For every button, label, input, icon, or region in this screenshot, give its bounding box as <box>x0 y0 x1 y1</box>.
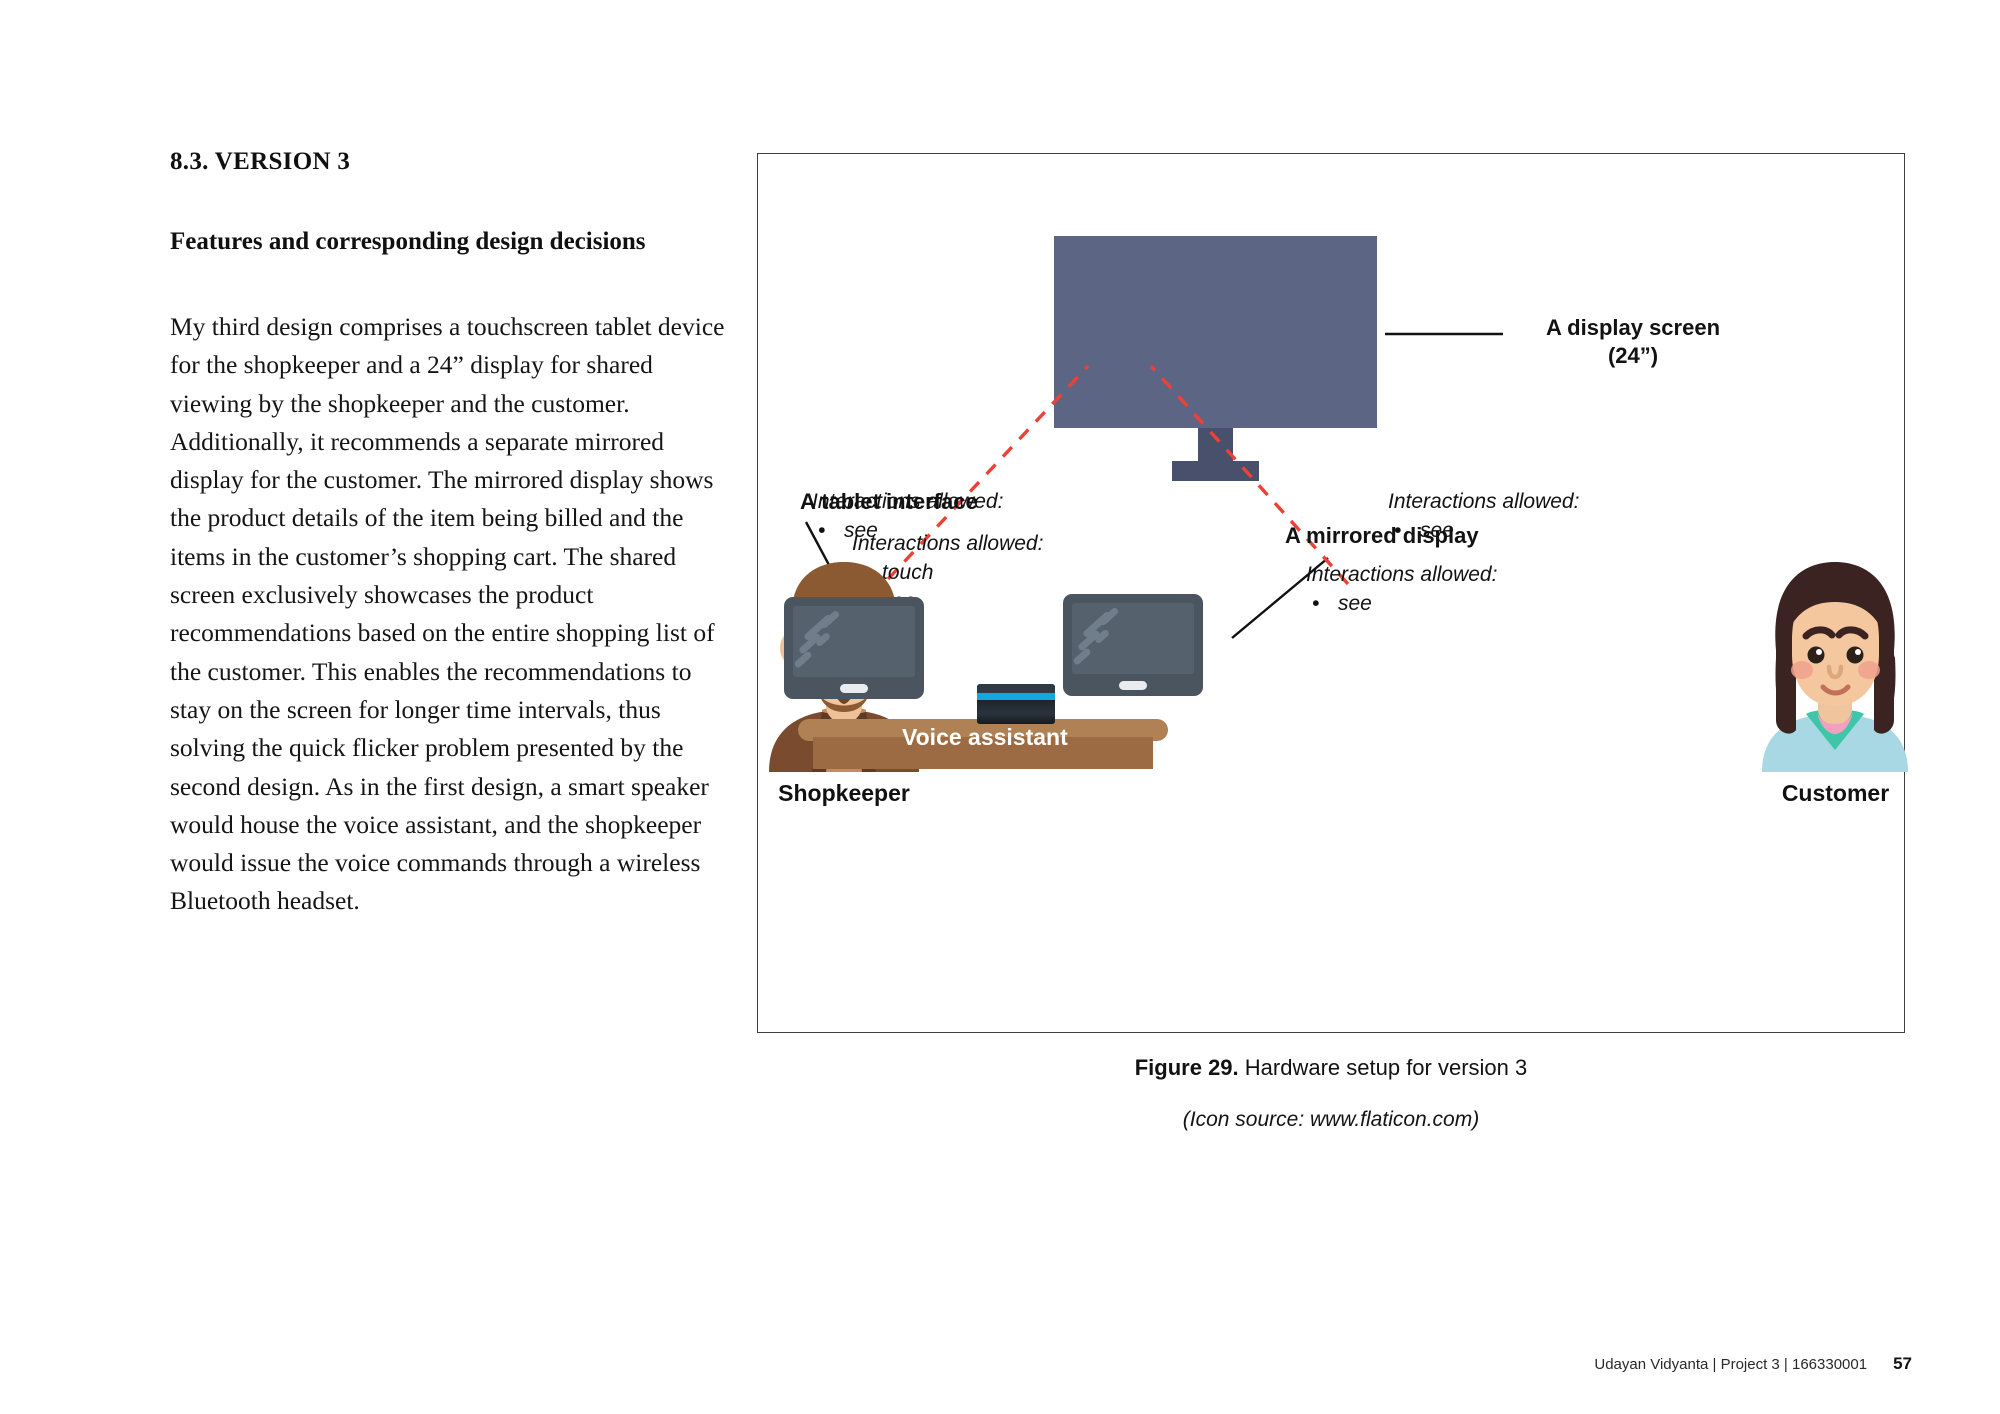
bullet-icon: • <box>812 516 844 545</box>
tablet-interface-title: A tablet interface <box>800 488 978 516</box>
body-paragraph: My third design comprises a touchscreen … <box>170 308 730 921</box>
display-screen-title-line1: A display screen <box>1508 314 1758 342</box>
section-heading: 8.3. VERSION 3 <box>170 148 730 176</box>
speaker-light-ring <box>977 693 1055 700</box>
customer-tablet-screen <box>1072 603 1194 674</box>
mirrored-interactions-heading: Interactions allowed: <box>1306 560 1497 589</box>
speaker-body <box>977 700 1055 724</box>
page-footer: Udayan Vidyanta | Project 3 | 166330001 … <box>1594 1354 1912 1374</box>
screen-glare-streak <box>793 650 813 669</box>
display-screen-title-line2: (24”) <box>1508 342 1758 370</box>
screen-glare-streak <box>1072 647 1092 666</box>
list-item: •see <box>1306 589 1497 618</box>
figure-caption-text: Hardware setup for version 3 <box>1245 1055 1527 1080</box>
figure-source-note: (Icon source: www.flaticon.com) <box>757 1108 1905 1132</box>
footer-meta: Udayan Vidyanta | Project 3 | 166330001 <box>1594 1356 1867 1373</box>
speaker-top <box>977 684 1055 693</box>
mirrored-display-title: A mirrored display <box>1285 522 1479 550</box>
shopkeeper-label: Shopkeeper <box>734 780 954 807</box>
voice-assistant-label: Voice assistant <box>902 724 1068 751</box>
annotation-display-screen: A display screen (24”) <box>1508 314 1758 370</box>
customer-interactions-heading: Interactions allowed: <box>1388 487 1579 516</box>
document-text-column: 8.3. VERSION 3 Features and correspondin… <box>170 148 730 921</box>
figure-illustration: A display screen (24”) Interactions allo… <box>758 154 1904 1032</box>
mirrored-interactions-list: •see <box>1306 589 1497 618</box>
figure-caption: Figure 29. Hardware setup for version 3 <box>757 1055 1905 1081</box>
mirrored-interaction-0: see <box>1338 589 1372 618</box>
customer-avatar <box>1728 554 1943 772</box>
sub-heading: Features and corresponding design decisi… <box>170 228 730 256</box>
shopkeeper-tablet-home-button <box>840 684 868 693</box>
annotation-mirrored-display: A mirrored display <box>1285 522 1479 550</box>
customer-tablet-home-button <box>1119 681 1147 690</box>
smart-speaker-device <box>977 684 1055 724</box>
figure-container: A display screen (24”) Interactions allo… <box>757 153 1905 1033</box>
shopkeeper-tablet <box>784 597 924 699</box>
bullet-icon: • <box>1306 589 1338 618</box>
figure-caption-label: Figure 29. <box>1135 1055 1239 1080</box>
customer-label: Customer <box>1728 780 1943 807</box>
shopkeeper-tablet-screen <box>793 606 915 677</box>
customer-mirrored-tablet <box>1063 594 1203 696</box>
annotation-mirrored-interactions: Interactions allowed: •see <box>1306 560 1497 618</box>
footer-page-number: 57 <box>1893 1354 1912 1374</box>
